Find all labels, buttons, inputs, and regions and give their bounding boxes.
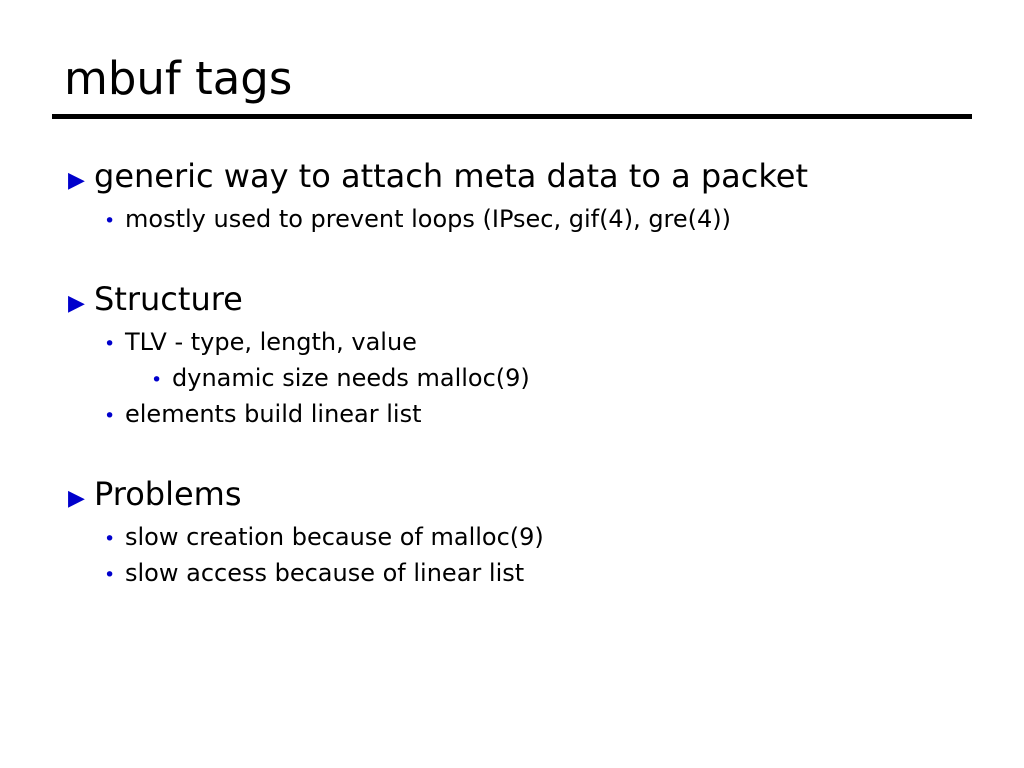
outline-item-level1: ▶ generic way to attach meta data to a p… [0,155,1024,202]
outline-item-text: Problems [94,473,242,515]
outline-item-text: slow creation because of malloc(9) [125,520,544,554]
outline-item-level2: • elements build linear list [0,397,1024,433]
outline-item-text: generic way to attach meta data to a pac… [94,155,808,197]
outline-item-level1: ▶ Structure [0,278,1024,325]
outline-item-level3: • dynamic size needs malloc(9) [0,361,1024,397]
outline-group: ▶ generic way to attach meta data to a p… [0,155,1024,238]
triangle-bullet-icon: ▶ [68,478,94,520]
dot-bullet-icon: • [104,399,125,433]
dot-bullet-icon: • [104,327,125,361]
outline-item-level2: • TLV - type, length, value [0,325,1024,361]
outline-item-text: Structure [94,278,243,320]
outline-item-level1: ▶ Problems [0,473,1024,520]
dot-bullet-icon: • [104,204,125,238]
triangle-bullet-icon: ▶ [68,283,94,325]
outline-item-text: slow access because of linear list [125,556,524,590]
outline-item-level2: • slow access because of linear list [0,556,1024,592]
outline-item-text: dynamic size needs malloc(9) [172,361,530,395]
outline-group: ▶ Structure • TLV - type, length, value … [0,278,1024,433]
outline-item-level2: • mostly used to prevent loops (IPsec, g… [0,202,1024,238]
outline-item-text: TLV - type, length, value [125,325,417,359]
outline-item-level2: • slow creation because of malloc(9) [0,520,1024,556]
outline-group: ▶ Problems • slow creation because of ma… [0,473,1024,592]
dot-bullet-icon: • [104,522,125,556]
outline-item-text: mostly used to prevent loops (IPsec, gif… [125,202,731,236]
title-divider-rule [52,114,972,119]
triangle-bullet-icon: ▶ [68,160,94,202]
presentation-slide: mbuf tags ▶ generic way to attach meta d… [0,0,1024,768]
dot-bullet-icon: • [104,558,125,592]
outline-item-text: elements build linear list [125,397,422,431]
slide-body-outline: ▶ generic way to attach meta data to a p… [0,155,1024,592]
page-title: mbuf tags [64,52,292,106]
dot-bullet-icon: • [151,363,172,397]
